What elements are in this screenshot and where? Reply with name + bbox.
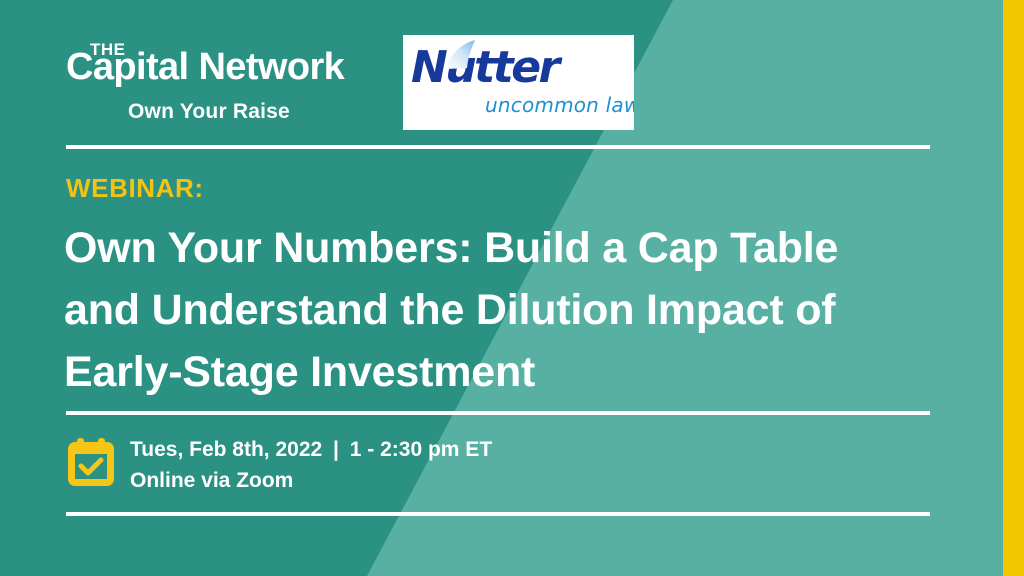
capital-network-logo-tagline: Own Your Raise bbox=[128, 100, 290, 124]
event-datetime-line: Tues, Feb 8th, 2022 | 1 - 2:30 pm ET bbox=[130, 434, 492, 465]
divider-middle bbox=[66, 411, 930, 415]
event-separator: | bbox=[328, 438, 344, 461]
event-location: Online via Zoom bbox=[130, 465, 492, 496]
calendar-check-icon bbox=[66, 436, 116, 488]
divider-top bbox=[66, 145, 930, 149]
event-time: 1 - 2:30 pm ET bbox=[350, 438, 492, 461]
capital-network-logo-wordmark: THE Capital Network bbox=[66, 44, 336, 90]
divider-bottom bbox=[66, 512, 930, 516]
page-title-line-2: and Understand the Dilution Impact of bbox=[64, 279, 944, 341]
nutter-logo-wordmark: Nutter bbox=[411, 42, 558, 94]
event-details: Tues, Feb 8th, 2022 | 1 - 2:30 pm ET Onl… bbox=[66, 434, 492, 496]
page-title-line-1: Own Your Numbers: Build a Cap Table bbox=[64, 217, 944, 279]
event-text-block: Tues, Feb 8th, 2022 | 1 - 2:30 pm ET Onl… bbox=[130, 434, 492, 496]
webinar-promo-slide: THE Capital Network Own Your Raise Nutte… bbox=[0, 0, 1024, 576]
webinar-eyebrow-label: WEBINAR: bbox=[66, 173, 204, 204]
capital-network-logo: THE Capital Network Own Your Raise bbox=[66, 44, 336, 90]
page-title: Own Your Numbers: Build a Cap Table and … bbox=[64, 217, 944, 403]
event-date: Tues, Feb 8th, 2022 bbox=[130, 438, 322, 461]
nutter-logo: Nutter uncommon law bbox=[403, 35, 634, 130]
capital-network-logo-name: Capital Network bbox=[66, 46, 344, 88]
page-title-line-3: Early-Stage Investment bbox=[64, 341, 944, 403]
nutter-logo-tagline: uncommon law bbox=[485, 93, 634, 117]
right-edge-yellow-bar bbox=[1003, 0, 1024, 576]
